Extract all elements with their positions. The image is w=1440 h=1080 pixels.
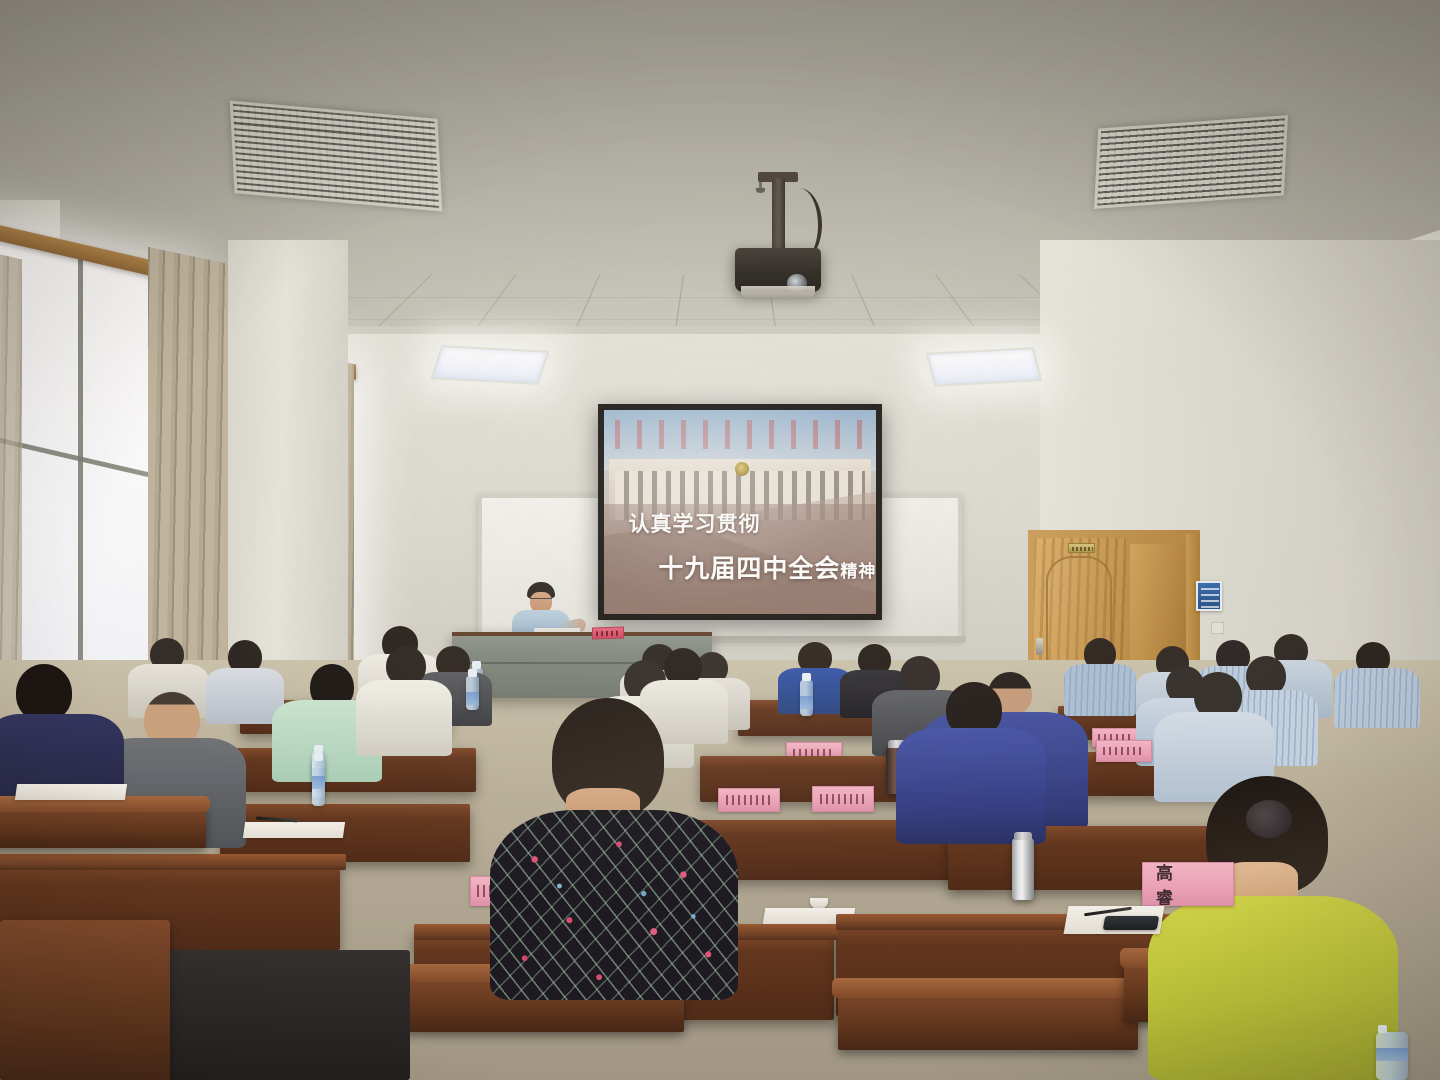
projector-lens-icon bbox=[787, 274, 807, 292]
paper-document bbox=[243, 822, 345, 838]
name-card bbox=[718, 788, 780, 812]
wall-sign-blue bbox=[1196, 581, 1222, 611]
name-card bbox=[1096, 740, 1152, 762]
sprinkler-icon bbox=[756, 182, 765, 195]
window-mullion bbox=[78, 256, 83, 687]
glasses-icon bbox=[530, 598, 552, 603]
attendee-torso bbox=[1064, 664, 1136, 716]
meeting-room-photo: 认真学习贯彻 十九届四中全会精神 bbox=[0, 0, 1440, 1080]
projection-screen: 认真学习贯彻 十九届四中全会精神 bbox=[598, 404, 882, 620]
paper-document bbox=[15, 784, 127, 800]
water-bottle bbox=[466, 676, 479, 710]
slide-flag-row bbox=[615, 420, 865, 449]
attendee-torso bbox=[896, 728, 1046, 844]
name-card-gao-rui: 高 睿 bbox=[1142, 862, 1234, 906]
slide-headline-line2: 十九届四中全会精神 bbox=[658, 549, 876, 585]
wall-socket bbox=[1211, 622, 1224, 634]
thermos-flask bbox=[1012, 838, 1034, 900]
projected-slide: 认真学习贯彻 十九届四中全会精神 bbox=[604, 410, 876, 614]
chair-rail bbox=[832, 978, 1144, 998]
water-bottle bbox=[800, 680, 813, 716]
chair-left-front[interactable] bbox=[0, 920, 170, 1080]
name-card bbox=[812, 786, 874, 812]
national-emblem-icon bbox=[735, 462, 749, 476]
attendee-torso bbox=[1334, 668, 1420, 728]
air-vent-right bbox=[1094, 115, 1288, 209]
wall-cornice bbox=[320, 326, 1060, 334]
slide-headline-main: 十九届四中全会 bbox=[658, 554, 840, 583]
air-vent-left bbox=[230, 101, 443, 212]
door-handle[interactable] bbox=[1036, 638, 1043, 655]
attendee-torso bbox=[1148, 896, 1398, 1080]
slide-headline-suffix: 精神 bbox=[840, 562, 876, 582]
water-bottle bbox=[1376, 1032, 1408, 1080]
hair-clip-icon bbox=[1246, 800, 1292, 838]
water-bottle bbox=[312, 760, 325, 806]
mobile-phone bbox=[1103, 916, 1159, 930]
slide-headline-line1: 认真学习贯彻 bbox=[628, 508, 760, 538]
panel-light-right bbox=[926, 347, 1042, 387]
chair-seat-dark[interactable] bbox=[160, 950, 410, 1080]
wall-pier bbox=[228, 240, 348, 680]
ceiling-projector bbox=[735, 248, 821, 292]
attendee-torso-floral bbox=[490, 810, 738, 1000]
door-plaque bbox=[1068, 543, 1095, 553]
curtain-panel bbox=[0, 253, 22, 700]
panel-light-left bbox=[430, 345, 549, 385]
podium-name-card bbox=[592, 626, 624, 639]
attendee-torso bbox=[356, 680, 452, 756]
desk-surface bbox=[0, 854, 346, 870]
